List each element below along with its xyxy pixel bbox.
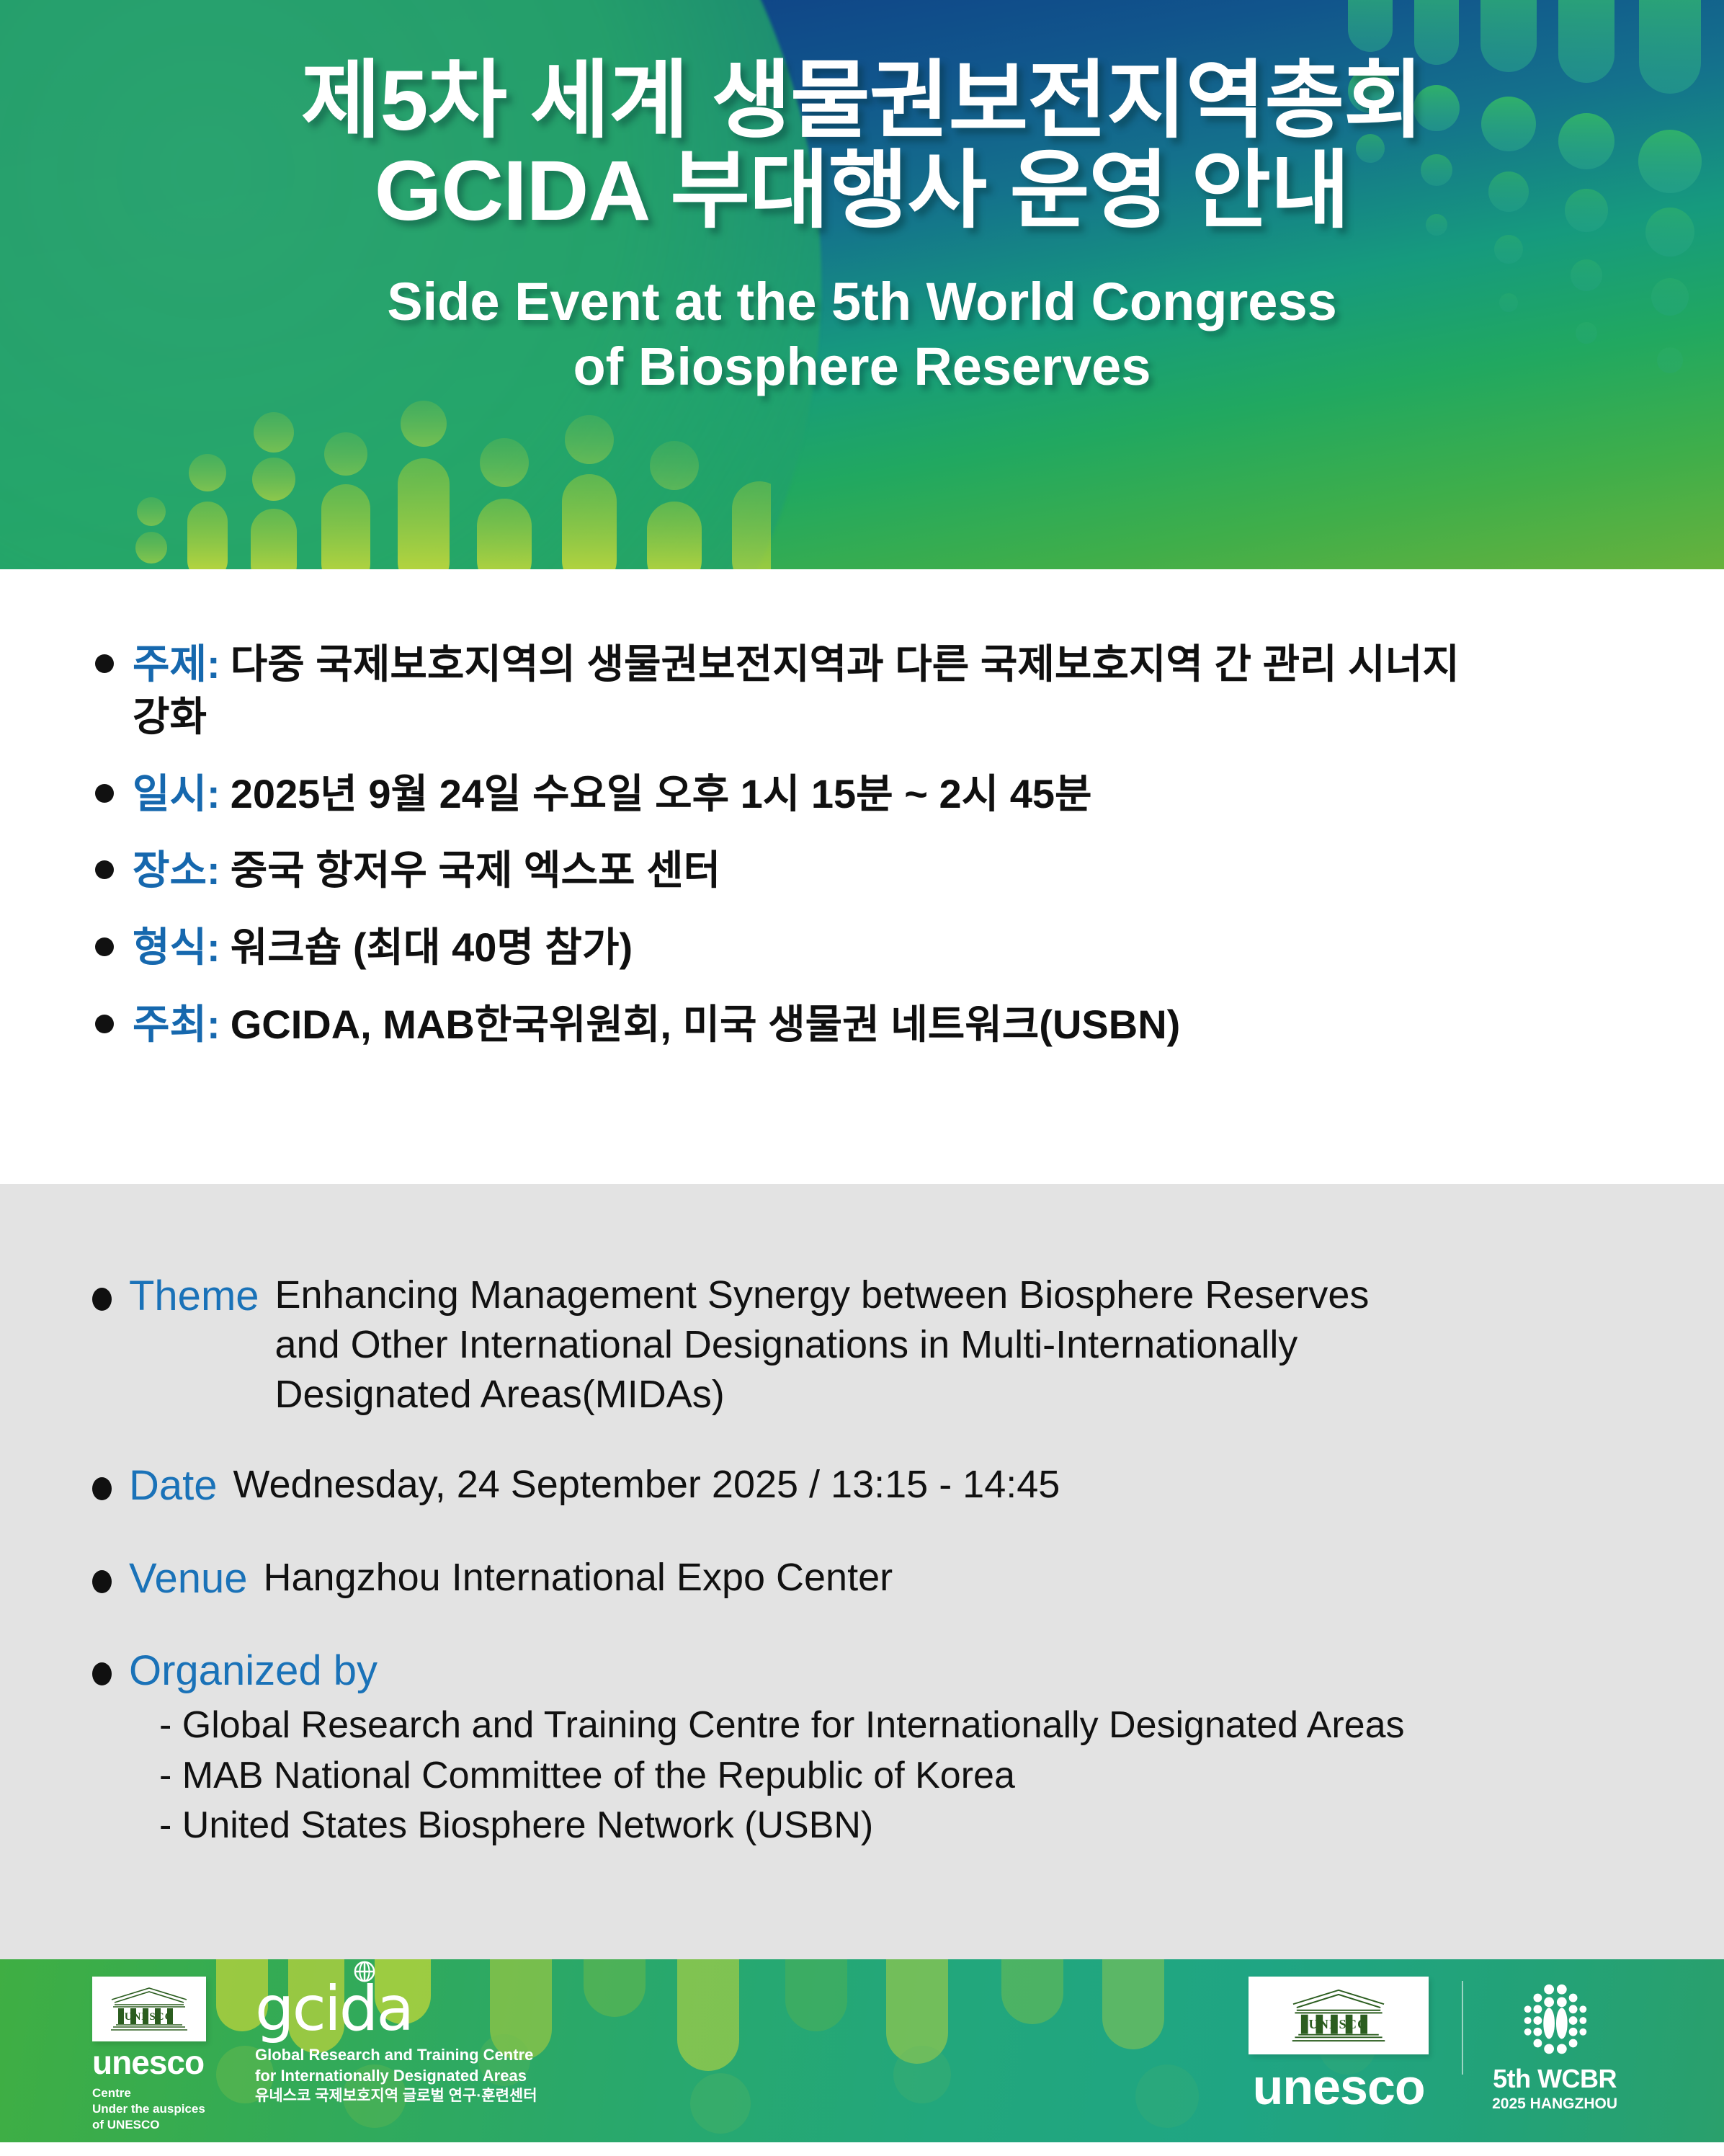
korean-item-date: 일시:2025년 9월 24일 수요일 오후 1시 15분 ~ 2시 45분 bbox=[0, 768, 1724, 821]
gcida-wordmark-text: gcida bbox=[255, 1973, 412, 2045]
theme-line-3: Designated Areas(MIDAs) bbox=[275, 1370, 1370, 1420]
bullet-icon bbox=[95, 1015, 114, 1033]
bullet-icon bbox=[95, 784, 114, 803]
subtitle-english-line-1: Side Event at the 5th World Congress bbox=[387, 269, 1337, 334]
english-item-theme: Theme Enhancing Management Synergy betwe… bbox=[0, 1270, 1724, 1420]
gcida-wordmark: gcida bbox=[255, 1978, 537, 2040]
korean-label-format: 형식: bbox=[133, 925, 220, 970]
english-value-theme: Enhancing Management Synergy between Bio… bbox=[275, 1270, 1370, 1420]
unesco-subtitle-line-3: of UNESCO bbox=[92, 2117, 222, 2133]
poster-root: 제5차 세계 생물권보전지역총회 GCIDA 부대행사 운영 안내 Side E… bbox=[0, 0, 1724, 2156]
organizer-item-2: - MAB National Committee of the Republic… bbox=[129, 1751, 1405, 1801]
unesco-subtitle-line-2: Under the auspices bbox=[92, 2101, 222, 2117]
english-label-organized-by: Organized by bbox=[129, 1645, 1389, 1698]
korean-value-format: 워크숍 (최대 40명 참가) bbox=[231, 925, 633, 970]
korean-label-date: 일시: bbox=[133, 771, 220, 816]
english-item-date: Date Wednesday, 24 September 2025 / 13:1… bbox=[0, 1460, 1724, 1513]
korean-label-theme: 주제: bbox=[133, 641, 220, 687]
organizer-item-1: - Global Research and Training Centre fo… bbox=[129, 1701, 1405, 1751]
footer-divider bbox=[1462, 1981, 1463, 2075]
korean-details-list: 주제:다중 국제보호지역의 생물권보전지역과 다른 국제보호지역 간 관리 시너… bbox=[0, 638, 1724, 1051]
theme-line-2: and Other International Designations in … bbox=[275, 1320, 1370, 1370]
svg-text:UNESCO: UNESCO bbox=[1309, 2017, 1369, 2031]
unesco-right-emblem-icon: UNESCO bbox=[1249, 1977, 1429, 2054]
korean-value-theme: 다중 국제보호지역의 생물권보전지역과 다른 국제보호지역 간 관리 시너지 강… bbox=[133, 641, 1460, 739]
gcida-subtitle-line-1: Global Research and Training Centre bbox=[255, 2044, 537, 2065]
gcida-subtitle: Global Research and Training Centre for … bbox=[255, 2044, 537, 2106]
organizer-list: - Global Research and Training Centre fo… bbox=[129, 1701, 1405, 1851]
poster-subtitle-english: Side Event at the 5th World Congress of … bbox=[387, 269, 1337, 400]
korean-value-venue: 중국 항저우 국제 엑스포 센터 bbox=[231, 847, 720, 893]
unesco-centre-logo: UNESCO unesco Centre Under the auspices … bbox=[92, 1977, 222, 2133]
footer-right-logos: UNESCO unesco bbox=[1249, 1959, 1724, 2112]
globe-icon bbox=[354, 1961, 375, 1982]
bullet-icon bbox=[95, 937, 114, 956]
unesco-subtitle: Centre Under the auspices of UNESCO bbox=[92, 2085, 222, 2133]
english-label-venue: Venue bbox=[129, 1553, 248, 1605]
bullet-icon bbox=[92, 1570, 112, 1593]
korean-item-venue: 장소:중국 항저우 국제 엑스포 센터 bbox=[0, 845, 1724, 897]
unesco-emblem-icon: UNESCO bbox=[92, 1977, 206, 2041]
gcida-subtitle-line-2: for Internationally Designated Areas bbox=[255, 2065, 537, 2086]
title-korean-line-1: 제5차 세계 생물권보전지역총회 bbox=[301, 56, 1423, 146]
unesco-temple-icon: UNESCO bbox=[1285, 1987, 1393, 2044]
bullet-icon bbox=[92, 1662, 112, 1685]
english-details-section: Theme Enhancing Management Synergy betwe… bbox=[0, 1184, 1724, 1959]
unesco-subtitle-line-1: Centre bbox=[92, 2085, 222, 2101]
theme-line-1: Enhancing Management Synergy between Bio… bbox=[275, 1270, 1370, 1320]
english-value-date: Wednesday, 24 September 2025 / 13:15 - 1… bbox=[233, 1460, 1060, 1510]
korean-item-organizer: 주최:GCIDA, MAB한국위원회, 미국 생물권 네트워크(USBN) bbox=[0, 999, 1724, 1051]
gcida-logo: gcida Global Research and Training Centr… bbox=[255, 1977, 537, 2106]
english-value-venue: Hangzhou International Expo Center bbox=[264, 1553, 893, 1603]
gcida-subtitle-korean: 유네스코 국제보호지역 글로벌 연구·훈련센터 bbox=[255, 2086, 537, 2106]
unesco-right-wordmark: unesco bbox=[1249, 2062, 1429, 2112]
english-item-organized-by: Organized by - Global Research and Train… bbox=[0, 1645, 1724, 1851]
english-item-venue: Venue Hangzhou International Expo Center bbox=[0, 1553, 1724, 1605]
korean-value-organizer: GCIDA, MAB한국위원회, 미국 생물권 네트워크(USBN) bbox=[231, 1002, 1181, 1047]
wcbr-title: 5th WCBR bbox=[1493, 2066, 1617, 2092]
wcbr-sphere-icon bbox=[1512, 1978, 1597, 2063]
subtitle-english-line-2: of Biosphere Reserves bbox=[387, 334, 1337, 399]
bullet-icon bbox=[95, 860, 114, 879]
poster-footer: UNESCO unesco Centre Under the auspices … bbox=[0, 1959, 1724, 2142]
korean-label-organizer: 주최: bbox=[133, 1002, 220, 1047]
bullet-icon bbox=[92, 1288, 112, 1311]
english-label-theme: Theme bbox=[129, 1270, 259, 1323]
korean-details-section: 주제:다중 국제보호지역의 생물권보전지역과 다른 국제보호지역 간 관리 시너… bbox=[0, 569, 1724, 1184]
english-label-date: Date bbox=[129, 1460, 218, 1513]
korean-item-theme: 주제:다중 국제보호지역의 생물권보전지역과 다른 국제보호지역 간 관리 시너… bbox=[0, 638, 1724, 744]
title-korean-line-2: GCIDA 부대행사 운영 안내 bbox=[301, 146, 1423, 236]
korean-item-format: 형식:워크숍 (최대 40명 참가) bbox=[0, 922, 1724, 974]
poster-header: 제5차 세계 생물권보전지역총회 GCIDA 부대행사 운영 안내 Side E… bbox=[0, 0, 1724, 569]
korean-label-venue: 장소: bbox=[133, 847, 220, 893]
wcbr-logo: 5th WCBR 2025 HANGZHOU bbox=[1492, 1977, 1617, 2111]
svg-text:UNESCO: UNESCO bbox=[125, 2011, 174, 2023]
organizer-item-3: - United States Biosphere Network (USBN) bbox=[129, 1801, 1405, 1851]
poster-title-korean: 제5차 세계 생물권보전지역총회 GCIDA 부대행사 운영 안내 bbox=[301, 56, 1423, 236]
unesco-wordmark: unesco bbox=[92, 2046, 222, 2079]
bullet-icon bbox=[95, 654, 114, 673]
footer-left-logos: UNESCO unesco Centre Under the auspices … bbox=[0, 1959, 537, 2133]
unesco-temple-icon: UNESCO bbox=[106, 1985, 192, 2033]
bullet-icon bbox=[92, 1477, 112, 1500]
unesco-right-logo: UNESCO unesco bbox=[1249, 1977, 1429, 2112]
korean-value-date: 2025년 9월 24일 수요일 오후 1시 15분 ~ 2시 45분 bbox=[231, 771, 1092, 816]
wcbr-subtitle: 2025 HANGZHOU bbox=[1492, 2096, 1617, 2111]
